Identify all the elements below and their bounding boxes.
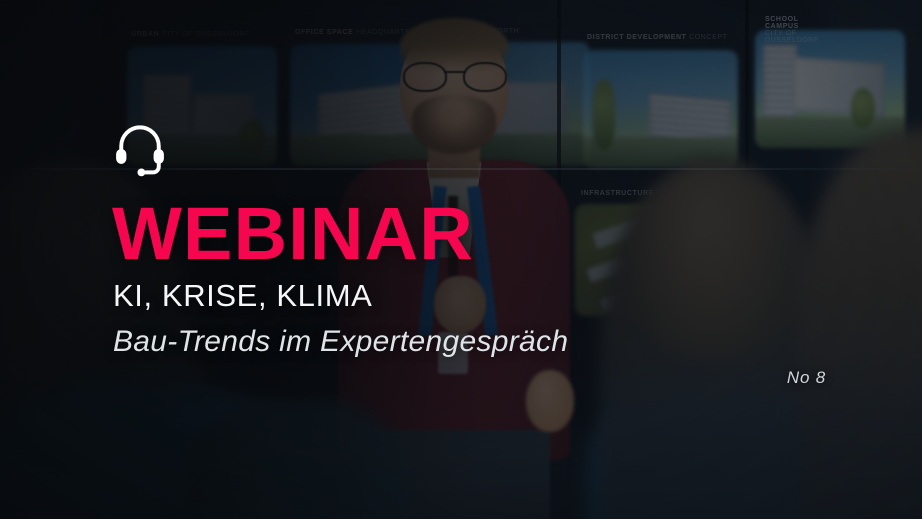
- issue-number: No 8: [787, 368, 826, 388]
- slide-tagline: Bau-Trends im Expertengespräch: [113, 322, 568, 361]
- webinar-slide: URBAN CITY OF DUSSELDORF OFFICE SPACE HE…: [0, 0, 922, 519]
- slide-subtitle: KI, KRISE, KLIMA: [113, 277, 568, 316]
- headset-icon: [110, 118, 170, 178]
- slide-content: WEBINAR KI, KRISE, KLIMA Bau-Trends im E…: [110, 118, 568, 361]
- page-title: WEBINAR: [112, 200, 568, 269]
